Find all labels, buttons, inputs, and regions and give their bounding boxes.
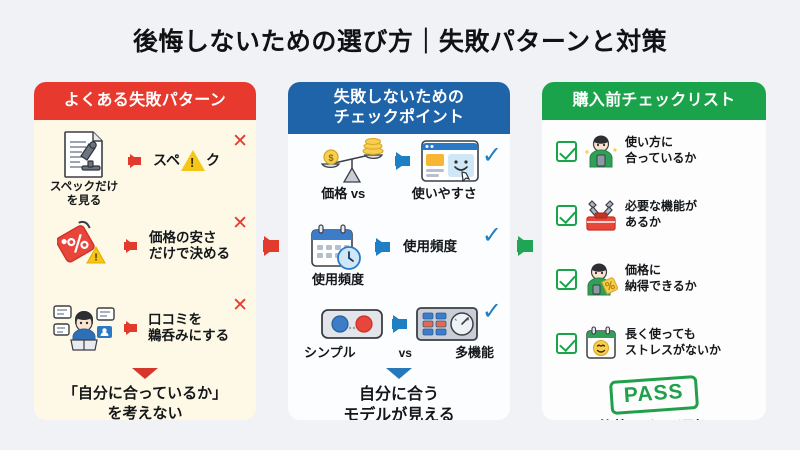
multifunction-panel-icon: [416, 306, 478, 342]
right-arrow-icon: [126, 239, 136, 253]
panel3-header: 購入前チェックリスト: [542, 82, 766, 120]
panel-checkpoints: 失敗しないための チェックポイント $: [288, 82, 510, 420]
right-arrow-icon: [130, 154, 140, 168]
microscope-document-icon: [62, 130, 106, 178]
failure-1-icon-group: スペックだけ を見る: [42, 130, 126, 209]
checkpoint-3-labels: シンプル vs 多機能: [288, 345, 510, 361]
panel3-conclusion: 後悔しない選択: [542, 418, 766, 420]
simple-panel-icon: [321, 306, 383, 342]
right-arrow-icon: [393, 315, 406, 333]
cross-mark-icon: ✕: [232, 296, 248, 315]
failure-3-result: 口コミを 鵜呑みにする: [148, 312, 229, 344]
checkpoint-row-3: シンプル vs 多機能 ✓: [288, 306, 510, 361]
checkpoint-1-icons: $: [288, 138, 510, 184]
checkpoint-row-2: 使用頻度 使用頻度 ✓: [288, 224, 510, 289]
right-arrow-icon: [376, 238, 389, 256]
cross-mark-icon: ✕: [232, 214, 248, 233]
failure-2-icon-group: !: [42, 220, 126, 268]
infographic-canvas: 後悔しないための選び方｜失敗パターンと対策 よくある失敗パターン: [0, 0, 800, 450]
checkpoint-3-left-label: シンプル: [304, 345, 356, 361]
arrow-panel2-to-panel3: [518, 236, 532, 256]
checklist-item-4[interactable]: 長く使っても ストレスがないか: [556, 326, 760, 360]
panel-common-failures: よくある失敗パターン: [34, 82, 256, 420]
checklist-item-2[interactable]: 必要な機能が あるか: [556, 198, 758, 232]
cross-mark-icon: ✕: [232, 132, 248, 151]
down-arrow-icon: [132, 368, 158, 379]
person-device-icon: [584, 134, 618, 168]
failure-row-1: スペックだけ を見る スペ ク ✕: [34, 130, 256, 209]
panel2-conclusion: 自分に合う モデルが見える: [288, 384, 510, 420]
failure-2-flow: 価格の安さ だけで決める: [126, 220, 230, 262]
checkpoint-2-left-label: 使用頻度: [312, 272, 364, 287]
panel1-header-label: よくある失敗パターン: [64, 91, 226, 111]
svg-text:!: !: [94, 253, 97, 264]
checkpoint-row-1: $: [288, 138, 510, 202]
failure-1-flow: スペ ク: [126, 130, 220, 171]
person-price-tag-icon: [584, 262, 618, 296]
failure-3-flow: 口コミを 鵜呑みにする: [126, 302, 229, 344]
calendar-smiley-icon: [584, 326, 618, 360]
panel2-header-line1: 失敗しないための: [334, 88, 464, 108]
checklist-item-1-label: 使い方に 合っているか: [625, 135, 696, 166]
panel2-body: $: [288, 134, 510, 420]
checklist-item-2-label: 必要な機能が あるか: [625, 199, 697, 230]
checkbox-checked-icon[interactable]: [556, 269, 577, 290]
failure-1-caption: スペックだけ を見る: [50, 180, 118, 209]
right-arrow-icon: [396, 152, 409, 170]
checklist-item-3-label: 価格に 納得できるか: [625, 263, 697, 294]
svg-text:$: $: [328, 153, 333, 163]
toolbox-icon: [584, 198, 618, 232]
checkpoint-3-icons: [288, 306, 510, 342]
checkpoint-1-labels: 価格 vs 使いやすさ: [288, 186, 510, 202]
panel2-header-line2: チェックポイント: [334, 108, 464, 128]
calendar-clock-icon: [308, 224, 364, 270]
panel-pre-purchase-checklist: 購入前チェックリスト 使い方に 合っているか: [542, 82, 766, 420]
failure-1-result-prefix: スペ: [153, 152, 180, 169]
failure-row-2: ! 価格の安さ だけで決める ✕: [34, 220, 256, 268]
failure-2-result: 価格の安さ だけで決める: [149, 230, 230, 262]
down-arrow-icon: [386, 368, 412, 379]
checkpoint-2-flow: 使用頻度: [288, 224, 510, 270]
checkpoint-1-right-label: 使いやすさ: [412, 186, 477, 202]
failure-row-3: 口コミを 鵜呑みにする ✕: [34, 302, 256, 352]
failure-3-icon-group: [42, 302, 126, 352]
checkbox-checked-icon[interactable]: [556, 333, 577, 354]
check-mark-icon: ✓: [482, 224, 502, 248]
person-reviews-icon: [53, 302, 115, 352]
checkpoint-2-left-label-wrap: 使用頻度: [288, 271, 510, 289]
panel3-body: 使い方に 合っているか 必要な機能が あるか: [542, 120, 766, 420]
failure-1-result-suffix: ク: [206, 152, 220, 169]
browser-usability-icon: [421, 138, 479, 184]
pass-stamp: PASS: [609, 375, 699, 415]
arrow-panel1-to-panel2: [264, 236, 278, 256]
check-mark-icon: ✓: [482, 300, 502, 324]
price-tag-icon: !: [57, 220, 111, 268]
checkbox-checked-icon[interactable]: [556, 141, 577, 162]
checkbox-checked-icon[interactable]: [556, 205, 577, 226]
check-mark-icon: ✓: [482, 144, 502, 168]
checklist-item-4-label: 長く使っても ストレスがないか: [625, 327, 721, 358]
panel2-header: 失敗しないための チェックポイント: [288, 82, 510, 134]
page-title: 後悔しないための選び方｜失敗パターンと対策: [0, 22, 800, 58]
panel1-conclusion: 「自分に合っているか」 を考えない: [34, 384, 256, 420]
panel1-header: よくある失敗パターン: [34, 82, 256, 120]
checklist-item-3[interactable]: 価格に 納得できるか: [556, 262, 758, 296]
checkpoint-2-right-label: 使用頻度: [403, 239, 457, 255]
right-arrow-icon: [126, 321, 136, 335]
checkpoint-3-vs-label: vs: [399, 346, 412, 360]
warning-icon: [181, 150, 205, 171]
checkpoint-3-right-label: 多機能: [455, 345, 494, 361]
panel1-body: スペックだけ を見る スペ ク ✕: [34, 120, 256, 420]
pass-stamp-wrap: PASS: [542, 378, 766, 412]
balance-scale-coins-icon: $: [320, 138, 384, 184]
checkpoint-1-left-label: 価格 vs: [321, 186, 365, 202]
checklist-item-1[interactable]: 使い方に 合っているか: [556, 134, 758, 168]
panel3-header-label: 購入前チェックリスト: [572, 91, 735, 111]
person-figure: [71, 311, 97, 350]
